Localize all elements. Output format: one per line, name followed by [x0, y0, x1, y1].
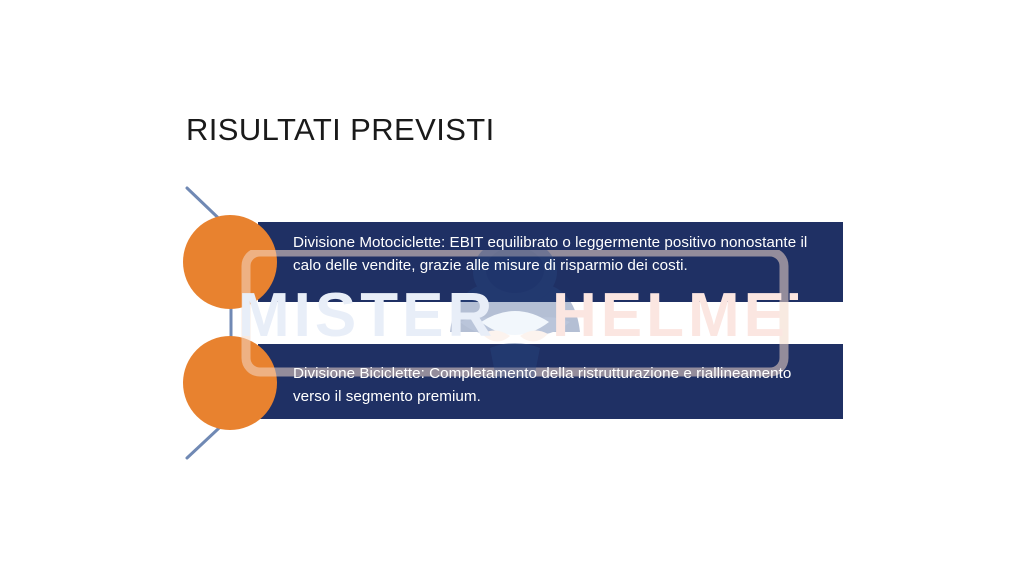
list-item-text: Divisione Motociclette: EBIT equilibrato…: [293, 231, 833, 277]
list-item-text: Divisione Biciclette: Completamento dell…: [293, 362, 833, 408]
page-title: RISULTATI PREVISTI: [186, 112, 495, 148]
bullet-circle: [183, 215, 277, 309]
bullet-circle: [183, 336, 277, 430]
slide-canvas: RISULTATI PREVISTI Divisione Motociclett…: [0, 0, 1024, 576]
